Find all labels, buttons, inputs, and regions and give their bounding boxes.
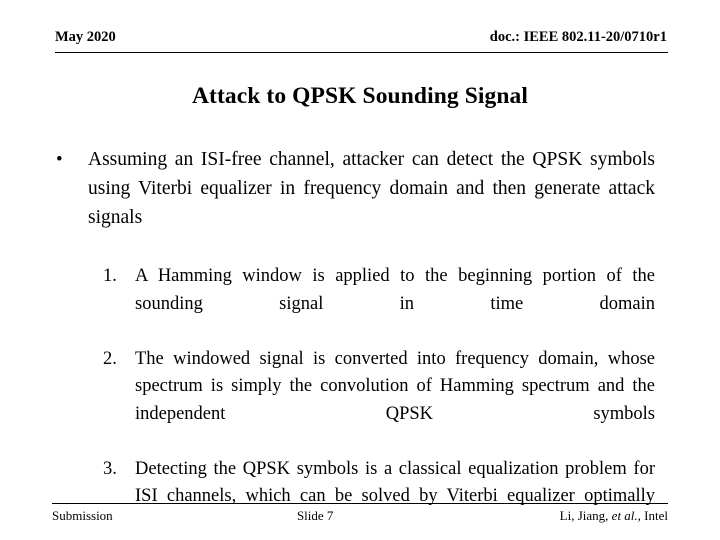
- list-item: 1. A Hamming window is applied to the be…: [103, 263, 655, 346]
- footer-authors-suffix: , Intel: [638, 508, 668, 523]
- bullet-marker-icon: •: [55, 145, 88, 174]
- numbered-item-text-2: The windowed signal is converted into fr…: [135, 346, 655, 456]
- list-item: 3. Detecting the QPSK symbols is a class…: [103, 456, 655, 539]
- numbered-marker-2: 2.: [103, 346, 135, 374]
- footer-submission-label: Submission: [52, 507, 113, 524]
- list-item: 2. The windowed signal is converted into…: [103, 346, 655, 456]
- slide-footer: Submission Slide 7 Li, Jiang, et al., In…: [52, 503, 668, 524]
- list-item: • Assuming an ISI-free channel, attacker…: [55, 145, 655, 261]
- header-doc-id: doc.: IEEE 802.11-20/0710r1: [490, 28, 668, 46]
- footer-authors-etal: et al.: [612, 508, 638, 523]
- numbered-list: 1. A Hamming window is applied to the be…: [103, 263, 655, 538]
- numbered-item-text-1: A Hamming window is applied to the begin…: [135, 263, 655, 346]
- header-date: May 2020: [55, 28, 116, 46]
- footer-authors: Li, Jiang, et al., Intel: [560, 507, 668, 524]
- footer-authors-prefix: Li, Jiang,: [560, 508, 612, 523]
- numbered-item-text-3: Detecting the QPSK symbols is a classica…: [135, 456, 655, 539]
- bullet-list: • Assuming an ISI-free channel, attacker…: [55, 145, 655, 261]
- numbered-marker-3: 3.: [103, 456, 135, 484]
- slide-title: Attack to QPSK Sounding Signal: [50, 82, 670, 110]
- numbered-marker-1: 1.: [103, 263, 135, 291]
- bullet-item-text: Assuming an ISI-free channel, attacker c…: [88, 145, 655, 261]
- footer-slide-number: Slide 7: [113, 507, 560, 524]
- slide-header: May 2020 doc.: IEEE 802.11-20/0710r1: [55, 28, 668, 53]
- slide-canvas: May 2020 doc.: IEEE 802.11-20/0710r1 Att…: [0, 0, 720, 540]
